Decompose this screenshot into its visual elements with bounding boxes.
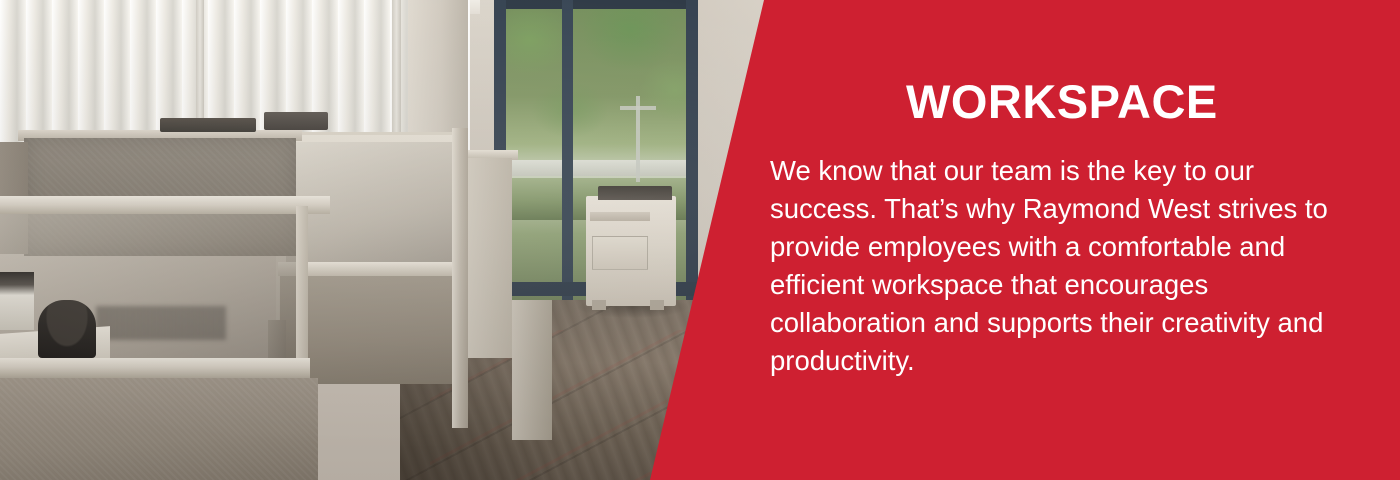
copier-lid <box>598 186 672 200</box>
copier-output-tray <box>590 212 650 221</box>
copier-foot-right <box>650 300 664 310</box>
foreground-cubicle-sill <box>0 358 310 378</box>
copier-foot-left <box>592 300 606 310</box>
door-frame-center <box>562 0 573 300</box>
desk-object-right <box>264 112 328 130</box>
copier-control-panel <box>592 236 648 270</box>
cubicle-corner-post <box>452 128 468 428</box>
panel-body-text: We know that our team is the key to our … <box>770 152 1332 380</box>
desk-clutter <box>96 306 226 340</box>
foreground-cubicle-rail <box>0 196 330 214</box>
desk-object-left <box>160 118 256 132</box>
door-frame-top <box>494 0 698 9</box>
exterior-light-pole-arm <box>620 106 656 110</box>
exterior-curb <box>500 160 696 176</box>
side-cubicle-panel-upper <box>466 158 512 358</box>
door-frame-right <box>686 0 698 306</box>
binder-stack <box>0 272 34 330</box>
foreground-cubicle-fabric-texture <box>0 378 318 480</box>
side-cubicle-panel-lower <box>512 300 552 440</box>
page-title: WORKSPACE <box>906 78 1218 125</box>
desk-phone-handset <box>38 300 96 358</box>
panel-content: WORKSPACE We know that our team is the k… <box>770 0 1350 480</box>
workspace-banner: WORKSPACE We know that our team is the k… <box>0 0 1400 480</box>
foreground-glass-frame-right <box>296 206 308 372</box>
